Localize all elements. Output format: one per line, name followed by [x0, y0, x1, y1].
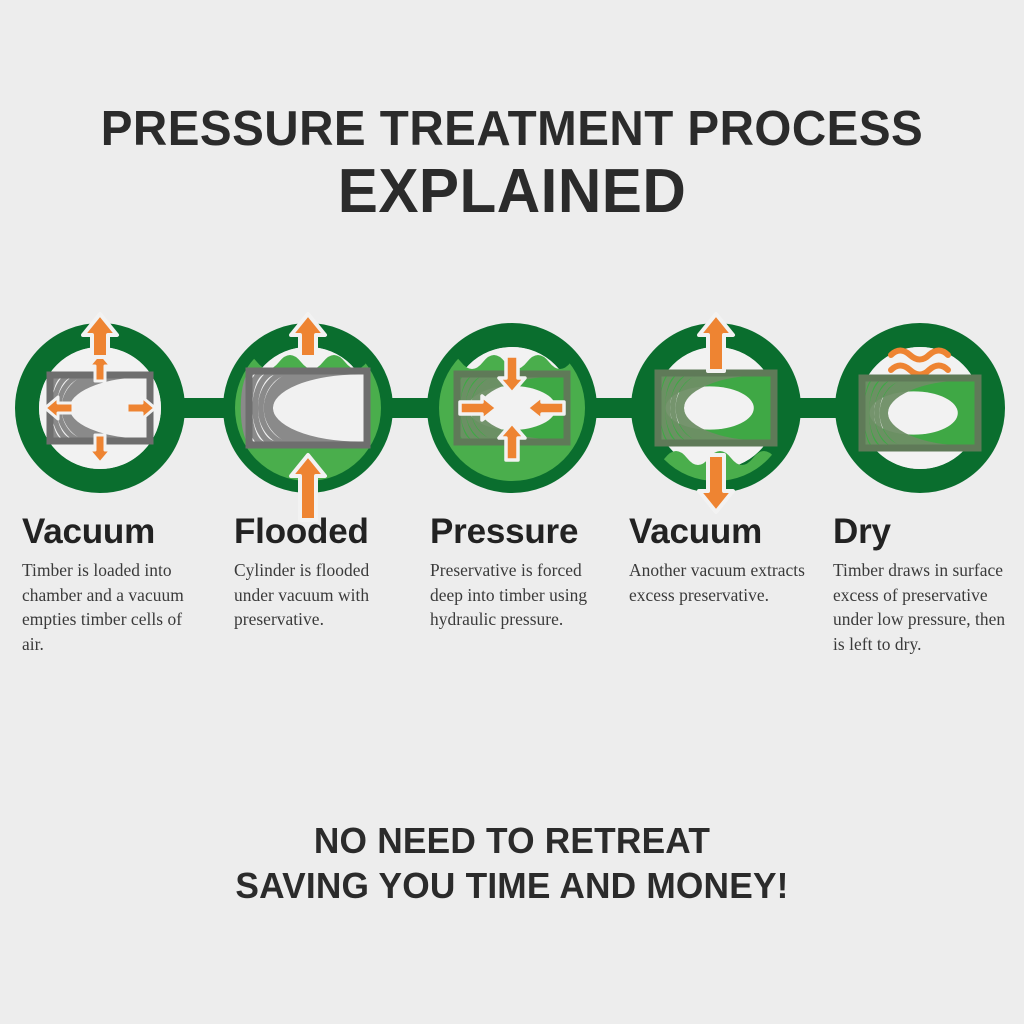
timber-block-untreated [244, 371, 367, 445]
title-line-secondary: EXPLAINED [15, 155, 1008, 228]
step-item-pressure: Pressure Preservative is forced deep int… [416, 512, 620, 656]
step-description: Timber draws in surface excess of preser… [833, 558, 1010, 656]
step-title: Flooded [234, 512, 402, 551]
step-title: Vacuum [22, 512, 202, 551]
process-diagram [0, 300, 1024, 525]
step-description: Timber is loaded into chamber and a vacu… [22, 558, 202, 656]
step-item-vacuum-1: Vacuum Timber is loaded into chamber and… [0, 512, 216, 656]
timber-block-treated [657, 373, 774, 443]
step-item-vacuum-2: Vacuum Another vacuum extracts excess pr… [620, 512, 824, 656]
timber-block-treated [861, 378, 978, 448]
step-icon-vacuum-1 [27, 314, 173, 481]
footer-line-1: NO NEED TO RETREAT [10, 818, 1014, 863]
footer-message: NO NEED TO RETREAT SAVING YOU TIME AND M… [0, 818, 1024, 909]
connector-bar-1-2 [180, 398, 230, 418]
connector-bar-3-4 [590, 398, 638, 418]
step-icon-flooded [235, 314, 391, 520]
step-title: Pressure [430, 512, 606, 551]
step-description: Preservative is forced deep into timber … [430, 558, 606, 632]
step-icon-dry [847, 335, 993, 481]
step-list: Vacuum Timber is loaded into chamber and… [0, 512, 1024, 656]
footer-line-2: SAVING YOU TIME AND MONEY! [10, 863, 1014, 908]
step-icon-pressure [439, 335, 595, 490]
step-item-flooded: Flooded Cylinder is flooded under vacuum… [216, 512, 416, 656]
step-title: Dry [833, 512, 1010, 551]
step-description: Another vacuum extracts excess preservat… [629, 558, 810, 607]
connector-bar-4-5 [794, 398, 842, 418]
title-line-primary: PRESSURE TREATMENT PROCESS [15, 104, 1008, 155]
page-title: PRESSURE TREATMENT PROCESS EXPLAINED [0, 0, 1024, 229]
connector-bar-2-3 [386, 398, 434, 418]
step-title: Vacuum [629, 512, 810, 551]
step-icon-vacuum-2 [643, 314, 799, 512]
step-item-dry: Dry Timber draws in surface excess of pr… [824, 512, 1024, 656]
step-description: Cylinder is flooded under vacuum with pr… [234, 558, 402, 632]
